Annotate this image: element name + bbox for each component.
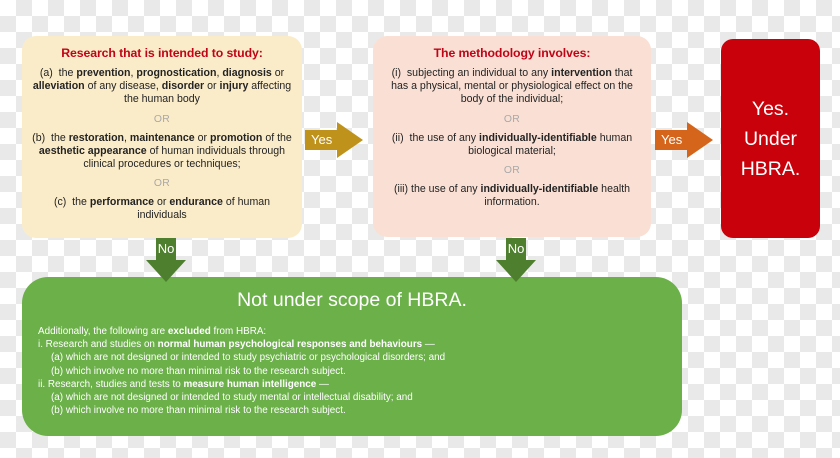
yes-arrow-right-2: Yes bbox=[655, 122, 713, 158]
methodology-clause-i: (i) subjecting an individual to any inte… bbox=[383, 67, 641, 107]
no-arrow-down-2: No bbox=[496, 238, 536, 282]
research-clause-b: (b) the restoration, maintenance or prom… bbox=[32, 132, 292, 172]
exclusion-item-ii: ii. Research, studies and tests to measu… bbox=[38, 378, 668, 391]
arrow-head-down-icon bbox=[146, 260, 186, 282]
flowchart-canvas: Research that is intended to study: (a) … bbox=[0, 0, 840, 458]
exclusion-item-i: i. Research and studies on normal human … bbox=[38, 338, 668, 351]
research-or-1: OR bbox=[32, 114, 292, 125]
exclusions-intro: Additionally, the following are excluded… bbox=[38, 325, 668, 338]
methodology-criteria-box: The methodology involves: (i) subjecting… bbox=[373, 36, 651, 237]
arrow-head-right-icon bbox=[337, 122, 363, 158]
methodology-clause-iii: (iii) the use of any individually-identi… bbox=[383, 183, 641, 209]
research-criteria-header: Research that is intended to study: bbox=[32, 46, 292, 60]
exclusion-item-ii-b: (b) which involve no more than minimal r… bbox=[38, 404, 668, 417]
research-or-2: OR bbox=[32, 178, 292, 189]
exclusions-list: Additionally, the following are excluded… bbox=[22, 325, 682, 417]
exclusion-item-ii-a: (a) which are not designed or intended t… bbox=[38, 391, 668, 404]
no-arrow-label-1: No bbox=[146, 238, 186, 260]
exclusion-item-i-b: (b) which involve no more than minimal r… bbox=[38, 365, 668, 378]
result-line-yes: Yes. bbox=[752, 94, 789, 124]
research-clause-a: (a) the prevention, prognostication, dia… bbox=[32, 67, 292, 107]
result-line-under: Under bbox=[744, 124, 797, 154]
exclusion-item-i-a: (a) which are not designed or intended t… bbox=[38, 351, 668, 364]
no-arrow-down-1: No bbox=[146, 238, 186, 282]
research-criteria-box: Research that is intended to study: (a) … bbox=[22, 36, 302, 238]
no-arrow-label-2: No bbox=[496, 238, 536, 260]
methodology-or-1: OR bbox=[383, 114, 641, 125]
methodology-or-2: OR bbox=[383, 165, 641, 176]
yes-arrow-label-1: Yes bbox=[305, 122, 332, 158]
arrow-head-down-icon bbox=[496, 260, 536, 282]
not-under-scope-title: Not under scope of HBRA. bbox=[22, 289, 682, 312]
research-clause-c: (c) the performance or endurance of huma… bbox=[32, 196, 292, 222]
result-under-hbra-box: Yes. Under HBRA. bbox=[721, 39, 820, 238]
result-not-under-hbra-box: Not under scope of HBRA. Additionally, t… bbox=[22, 277, 682, 436]
result-line-hbra: HBRA. bbox=[741, 154, 801, 184]
yes-arrow-right-1: Yes bbox=[305, 122, 363, 158]
yes-arrow-label-2: Yes bbox=[655, 122, 682, 158]
methodology-clause-ii: (ii) the use of any individually-identif… bbox=[383, 132, 641, 158]
arrow-head-right-icon bbox=[687, 122, 713, 158]
methodology-criteria-header: The methodology involves: bbox=[383, 46, 641, 60]
